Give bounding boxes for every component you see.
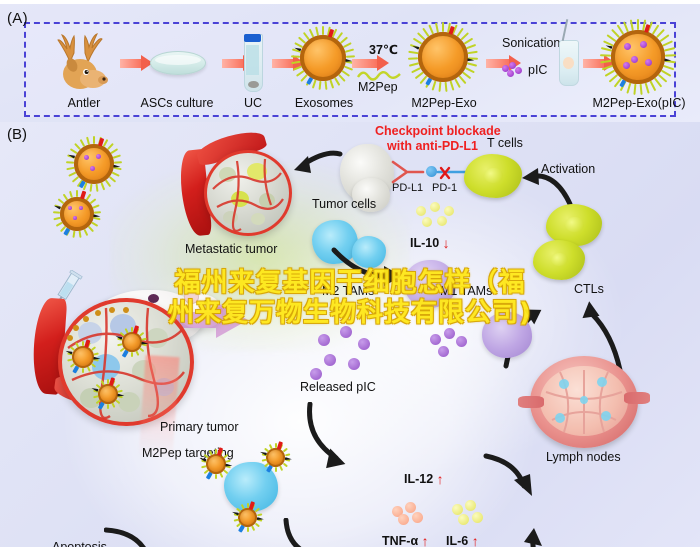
mouse-eye [204, 300, 208, 304]
cytokine-particle [444, 328, 455, 339]
panel-b: Metastatic tumor Tumor cells Checkpoint … [0, 122, 700, 547]
panel-b-label-activation: Activation [541, 162, 595, 176]
panel-b-caption: (B) [7, 126, 27, 143]
panel-b-label-il-6: IL-6 ↑ [446, 532, 479, 547]
panel-a-label-ascs-culture: ASCs culture [134, 96, 220, 110]
il-6-text: IL-6 [446, 534, 468, 547]
cytokine-particle [465, 500, 476, 511]
cytokine-particle [412, 512, 423, 523]
cytokine-particle [437, 216, 447, 226]
mouse-nose [215, 307, 223, 314]
tnf-alpha-text: TNF-α [382, 534, 418, 547]
m2pep-exosome-pic-icon [611, 30, 665, 84]
dendritic-cell [352, 236, 386, 268]
petri-dish-icon [150, 51, 206, 75]
pic-particle [318, 334, 330, 346]
exosome-particle [206, 454, 226, 474]
tnf-alpha-up-arrow: ↑ [422, 533, 429, 547]
arrow-to-immature-dcs [282, 518, 348, 547]
panel-b-label-pd1: PD-1 [432, 182, 457, 194]
m2pep-exosome-icon [418, 32, 468, 82]
pic-particle [324, 354, 336, 366]
panel-a-label-uc: UC [228, 96, 278, 110]
arrow-antler-to-culture [120, 59, 142, 68]
panel-b-label-tnf-alpha: TNF-α ↑ [382, 532, 429, 547]
arrow-pic-to-dcs [298, 402, 366, 474]
il-12-text: IL-12 [404, 472, 433, 486]
m1-tam-macrophage [482, 312, 532, 358]
lymph-node-illustration [530, 356, 638, 448]
t-cell [464, 154, 522, 198]
exosome-particle [266, 448, 285, 467]
exosome-particle [98, 384, 118, 404]
panel-a-label-m2pep: M2Pep [358, 80, 398, 94]
panel-a-label-temperature: 37℃ [369, 42, 398, 57]
cytokine-particle [422, 217, 432, 227]
panel-b-label-primary-tumor: Primary tumor [160, 420, 238, 434]
panel-b-label-tumor-cells: Tumor cells [312, 197, 376, 211]
panel-b-label-released-pic: Released pIC [300, 380, 376, 394]
panel-b-label-m1-tams: M1 TAMs [440, 284, 492, 298]
il-10-down-arrow: ↓ [443, 235, 450, 251]
exosome-particle [72, 346, 94, 368]
panel-a-caption: (A) [7, 10, 28, 27]
pic-particle [310, 368, 322, 380]
arrow-culture-to-uc [222, 59, 244, 68]
panel-a-label-exosomes: Exosomes [289, 96, 359, 110]
panel-a-label-m2pep-exo: M2Pep-Exo [405, 96, 483, 110]
panel-b-label-il-10: IL-10 ↓ [410, 234, 450, 250]
pic-particle [348, 358, 360, 370]
dendritic-cell [312, 220, 358, 264]
il-12-up-arrow: ↑ [437, 471, 444, 487]
panel-b-label-apoptosis: Apoptosis [52, 540, 107, 547]
panel-a: Antler ASCs culture UC Exosomes 37℃ M2Pe… [0, 4, 700, 122]
panel-a-label-m2pep-exo-pic: M2Pep-Exo(pIC) [581, 96, 697, 110]
antler-deer-icon [48, 32, 120, 94]
cytokine-particle [416, 206, 426, 216]
cytokine-particle [438, 346, 449, 357]
panel-a-label-pic: pIC [528, 63, 547, 77]
sonication-probe-icon [559, 40, 579, 86]
panel-b-label-il-12: IL-12 ↑ [404, 470, 444, 486]
cytokine-particle [444, 206, 454, 216]
exosome-particle [60, 197, 94, 231]
panel-b-label-t-cells: T cells [487, 136, 523, 150]
ctl-cell [533, 240, 585, 280]
pic-particle [340, 326, 352, 338]
arrow-il12-right [482, 452, 544, 504]
panel-b-label-metastatic-tumor: Metastatic tumor [185, 242, 277, 256]
cytokine-particle [472, 512, 483, 523]
cytokine-particle [398, 514, 409, 525]
arrow-exosomes-to-m2pepexo [352, 59, 378, 68]
panel-a-label-antler: Antler [48, 96, 120, 110]
panel-b-label-checkpoint-line1: Checkpoint blockade [375, 124, 501, 138]
cytokine-particle [456, 336, 467, 347]
panel-b-label-pdl1: PD-L1 [392, 182, 423, 194]
cytokine-particle [458, 514, 469, 525]
panel-b-label-m2-tams: M2 TAMs [322, 284, 374, 298]
exosome-particle [74, 144, 114, 184]
panel-a-label-sonication: Sonication [502, 36, 560, 50]
exosome-particle [122, 332, 142, 352]
exosome-particle [238, 508, 257, 527]
panel-b-label-checkpoint-line2: with anti-PD-L1 [387, 139, 478, 153]
scientific-figure: Antler ASCs culture UC Exosomes 37℃ M2Pe… [0, 0, 700, 547]
cytokine-particle [405, 502, 416, 513]
centrifuge-tube-icon [244, 34, 263, 92]
metastatic-tumor-mass [204, 150, 292, 236]
il-10-text: IL-10 [410, 236, 439, 250]
cytokine-particle [430, 202, 440, 212]
arrow-apoptosis [104, 526, 166, 547]
exosome-icon [300, 35, 346, 81]
pic-particles-icon [502, 62, 524, 76]
cytokine-particle [430, 334, 441, 345]
panel-b-label-ctls: CTLs [574, 282, 604, 296]
panel-b-label-lymph-nodes: Lymph nodes [546, 450, 621, 464]
il-6-up-arrow: ↑ [472, 533, 479, 547]
arrow-mature-to-lymph [494, 528, 550, 547]
pic-particle [358, 338, 370, 350]
